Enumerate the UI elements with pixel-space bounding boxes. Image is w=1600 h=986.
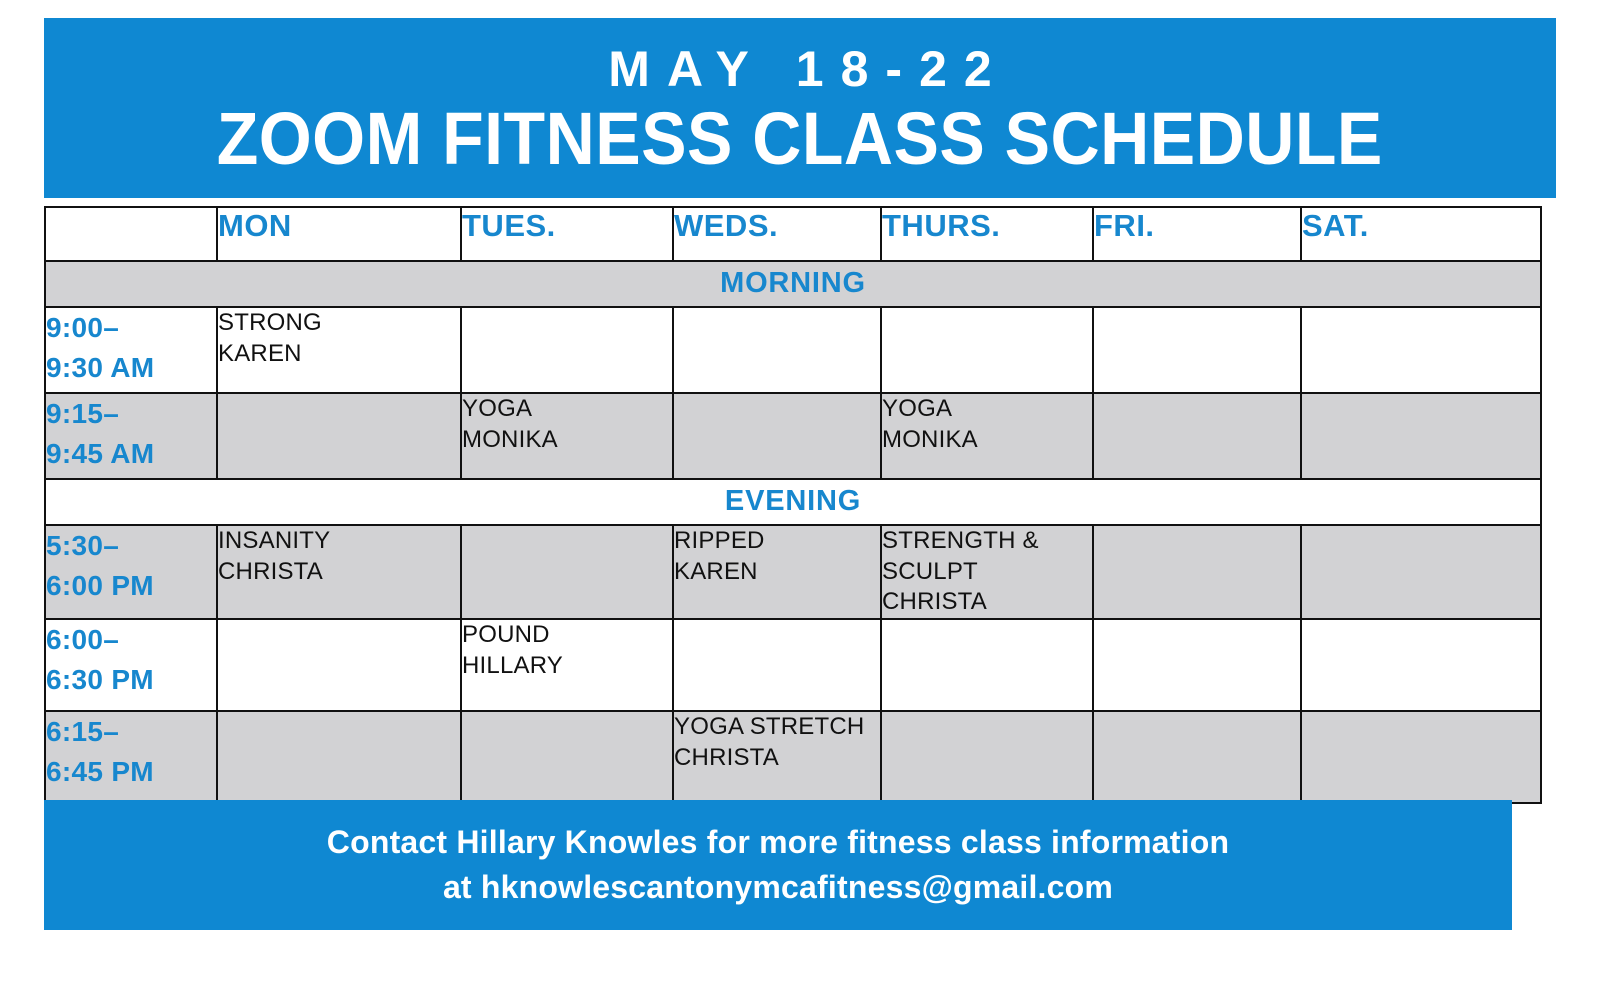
class-cell-fri — [1093, 619, 1301, 711]
class-cell-thurs — [881, 307, 1093, 393]
class-cell-mon — [217, 393, 461, 479]
class-cell-thurs: YOGA MONIKA — [881, 393, 1093, 479]
day-header-mon: MON — [217, 207, 461, 261]
class-cell-mon — [217, 711, 461, 803]
class-cell-tues: POUND HILLARY — [461, 619, 673, 711]
schedule-row: 6:00– 6:30 PM POUND HILLARY — [45, 619, 1541, 711]
section-label-evening: EVENING — [45, 479, 1541, 525]
schedule-poster: MAY 18-22 ZOOM FITNESS CLASS SCHEDULE MO… — [0, 0, 1600, 986]
class-cell-weds: YOGA STRETCH CHRISTA — [673, 711, 881, 803]
class-cell-tues — [461, 525, 673, 619]
time-slot-label: 6:00– 6:30 PM — [45, 619, 217, 711]
contact-line-2: at hknowlescantonymcafitness@gmail.com — [443, 865, 1113, 910]
time-slot-label: 5:30– 6:00 PM — [45, 525, 217, 619]
class-cell-tues: YOGA MONIKA — [461, 393, 673, 479]
class-cell-tues — [461, 711, 673, 803]
class-cell-tues — [461, 307, 673, 393]
schedule-row: 9:00– 9:30 AM STRONG KAREN — [45, 307, 1541, 393]
day-header-sat: SAT. — [1301, 207, 1541, 261]
day-header-row: MON TUES. WEDS. THURS. FRI. SAT. — [45, 207, 1541, 261]
class-cell-thurs — [881, 619, 1093, 711]
corner-cell — [45, 207, 217, 261]
schedule-row: 6:15– 6:45 PM YOGA STRETCH CHRISTA — [45, 711, 1541, 803]
class-cell-thurs — [881, 711, 1093, 803]
contact-banner: Contact Hillary Knowles for more fitness… — [44, 800, 1512, 930]
time-slot-label: 6:15– 6:45 PM — [45, 711, 217, 803]
class-cell-weds — [673, 393, 881, 479]
page-title: ZOOM FITNESS CLASS SCHEDULE — [217, 102, 1383, 176]
class-cell-sat — [1301, 393, 1541, 479]
day-header-weds: WEDS. — [673, 207, 881, 261]
day-header-tues: TUES. — [461, 207, 673, 261]
section-label-morning: MORNING — [45, 261, 1541, 307]
class-cell-fri — [1093, 525, 1301, 619]
section-banner-morning: MORNING — [45, 261, 1541, 307]
date-range-heading: MAY 18-22 — [591, 44, 1008, 94]
class-cell-weds: RIPPED KAREN — [673, 525, 881, 619]
class-cell-fri — [1093, 711, 1301, 803]
schedule-table: MON TUES. WEDS. THURS. FRI. SAT. MORNING… — [44, 206, 1542, 804]
class-cell-sat — [1301, 711, 1541, 803]
schedule-row: 5:30– 6:00 PM INSANITY CHRISTA RIPPED KA… — [45, 525, 1541, 619]
class-cell-mon: INSANITY CHRISTA — [217, 525, 461, 619]
class-cell-sat — [1301, 307, 1541, 393]
class-cell-mon: STRONG KAREN — [217, 307, 461, 393]
header-banner: MAY 18-22 ZOOM FITNESS CLASS SCHEDULE — [44, 18, 1556, 198]
time-slot-label: 9:00– 9:30 AM — [45, 307, 217, 393]
section-banner-evening: EVENING — [45, 479, 1541, 525]
class-cell-thurs: STRENGTH & SCULPT CHRISTA — [881, 525, 1093, 619]
time-slot-label: 9:15– 9:45 AM — [45, 393, 217, 479]
contact-line-1: Contact Hillary Knowles for more fitness… — [327, 820, 1229, 865]
class-cell-weds — [673, 619, 881, 711]
day-header-thurs: THURS. — [881, 207, 1093, 261]
schedule-row: 9:15– 9:45 AM YOGA MONIKA YOGA MONIKA — [45, 393, 1541, 479]
day-header-fri: FRI. — [1093, 207, 1301, 261]
class-cell-mon — [217, 619, 461, 711]
class-cell-sat — [1301, 619, 1541, 711]
class-cell-fri — [1093, 393, 1301, 479]
class-cell-sat — [1301, 525, 1541, 619]
class-cell-weds — [673, 307, 881, 393]
class-cell-fri — [1093, 307, 1301, 393]
